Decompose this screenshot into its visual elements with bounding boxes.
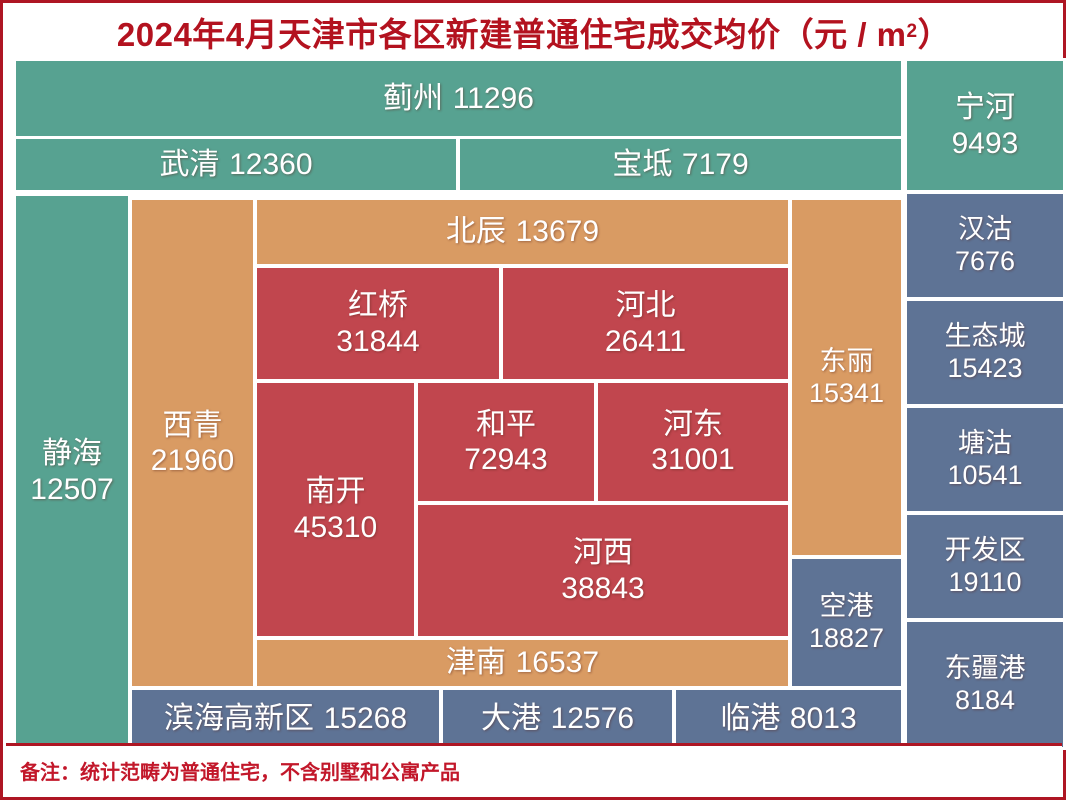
tile-baodi[interactable]: 宝坻 7179 (460, 139, 901, 190)
tile-beichen[interactable]: 北辰 13679 (257, 200, 788, 264)
tile-jinnan-name: 津南 (446, 645, 506, 680)
tile-nankai-value: 45310 (294, 510, 377, 545)
tile-dongli[interactable]: 东丽 15341 (792, 200, 901, 555)
tile-tanggu-name: 塘沽 (958, 428, 1012, 460)
tile-konggang[interactable]: 空港 18827 (792, 559, 901, 686)
tile-hangu-name: 汉沽 (958, 214, 1012, 246)
infographic-frame: 2024年4月天津市各区新建普通住宅成交均价（元 / m2） 房观澜 蓟州 11… (0, 0, 1066, 800)
tile-beichen-value: 13679 (516, 214, 599, 249)
tile-tanggu[interactable]: 塘沽 10541 (907, 408, 1063, 511)
page-title-main: 2024年4月天津市各区新建普通住宅成交均价（元 / m (117, 8, 907, 56)
tile-lingang-name: 临港 (720, 701, 780, 736)
tile-dongli-value: 15341 (809, 378, 884, 410)
tile-jinnan-value: 16537 (516, 645, 599, 680)
tile-dagang-name: 大港 (481, 701, 541, 736)
tile-dongjianggang-name: 东疆港 (945, 653, 1026, 685)
tile-hedong-value: 31001 (651, 442, 734, 477)
tile-hebei[interactable]: 河北 26411 (503, 268, 788, 379)
tile-shengtaicheng[interactable]: 生态城 15423 (907, 301, 1063, 404)
tile-dagang[interactable]: 大港 12576 (443, 690, 672, 747)
tile-lingang[interactable]: 临港 8013 (676, 690, 901, 747)
tile-hedong-name: 河东 (663, 407, 723, 442)
tile-dongli-name: 东丽 (820, 346, 874, 378)
tile-heping[interactable]: 和平 72943 (418, 383, 594, 501)
tile-jinnan[interactable]: 津南 16537 (257, 640, 788, 686)
tile-dongjianggang-value: 8184 (955, 685, 1015, 717)
tile-beichen-name: 北辰 (446, 214, 506, 249)
tile-hedong[interactable]: 河东 31001 (598, 383, 788, 501)
tile-tanggu-value: 10541 (947, 460, 1022, 492)
page-title-superscript: 2 (907, 21, 918, 43)
tile-kaifaqu-value: 19110 (948, 567, 1021, 599)
tile-binhaigaoxinqu[interactable]: 滨海高新区 15268 (132, 690, 439, 747)
tile-nankai[interactable]: 南开 45310 (257, 383, 414, 636)
tile-shengtaicheng-value: 15423 (947, 353, 1022, 385)
tile-hebei-value: 26411 (605, 324, 686, 359)
tile-binhaigaoxinqu-name: 滨海高新区 (164, 701, 314, 736)
tile-wuqing-name: 武清 (159, 147, 219, 182)
footer-note: 备注：统计范畴为普通住宅，不含别墅和公寓产品 (6, 746, 1062, 794)
tile-jizhou-value: 11296 (453, 81, 534, 116)
tile-binhaigaoxinqu-value: 15268 (324, 701, 407, 736)
tile-jizhou[interactable]: 蓟州 11296 (16, 61, 901, 136)
tile-wuqing[interactable]: 武清 12360 (16, 139, 456, 190)
tile-ninghe-name: 宁河 (955, 90, 1015, 125)
tile-lingang-value: 8013 (790, 701, 857, 736)
tile-jinghai[interactable]: 静海 12507 (16, 196, 128, 747)
tile-hexi[interactable]: 河西 38843 (418, 505, 788, 636)
tile-xiqing-value: 21960 (151, 443, 234, 478)
tile-hebei-name: 河北 (616, 288, 676, 323)
tile-hongqiao[interactable]: 红桥 31844 (257, 268, 499, 379)
tile-baodi-value: 7179 (682, 147, 749, 182)
tile-ninghe[interactable]: 宁河 9493 (907, 61, 1063, 190)
treemap-chart: 房观澜 蓟州 11296 武清 12360 宝坻 7179 宁河 9493 静海… (6, 58, 1066, 750)
tile-kaifaqu[interactable]: 开发区 19110 (907, 515, 1063, 618)
tile-kaifaqu-name: 开发区 (945, 535, 1026, 567)
tile-heping-name: 和平 (476, 407, 536, 442)
tile-jinghai-name: 静海 (42, 436, 102, 471)
tile-konggang-value: 18827 (809, 623, 884, 655)
tile-hexi-value: 38843 (561, 571, 644, 606)
page-title: 2024年4月天津市各区新建普通住宅成交均价（元 / m2） (6, 6, 1062, 58)
tile-hexi-name: 河西 (573, 535, 633, 570)
tile-dongjianggang[interactable]: 东疆港 8184 (907, 622, 1063, 747)
tile-nankai-name: 南开 (306, 474, 366, 509)
tile-hongqiao-name: 红桥 (348, 288, 408, 323)
tile-hangu-value: 7676 (955, 246, 1015, 278)
tile-jizhou-name: 蓟州 (383, 81, 443, 116)
tile-dagang-value: 12576 (551, 701, 634, 736)
tile-hangu[interactable]: 汉沽 7676 (907, 194, 1063, 297)
tile-shengtaicheng-name: 生态城 (945, 321, 1026, 353)
tile-ninghe-value: 9493 (952, 126, 1019, 161)
tile-xiqing[interactable]: 西青 21960 (132, 200, 253, 686)
tile-heping-value: 72943 (464, 442, 547, 477)
tile-jinghai-value: 12507 (30, 472, 113, 507)
tile-hongqiao-value: 31844 (336, 324, 419, 359)
page-title-tail: ） (918, 8, 952, 56)
tile-wuqing-value: 12360 (229, 147, 312, 182)
tile-baodi-name: 宝坻 (612, 147, 672, 182)
tile-xiqing-name: 西青 (163, 408, 223, 443)
tile-konggang-name: 空港 (820, 591, 874, 623)
